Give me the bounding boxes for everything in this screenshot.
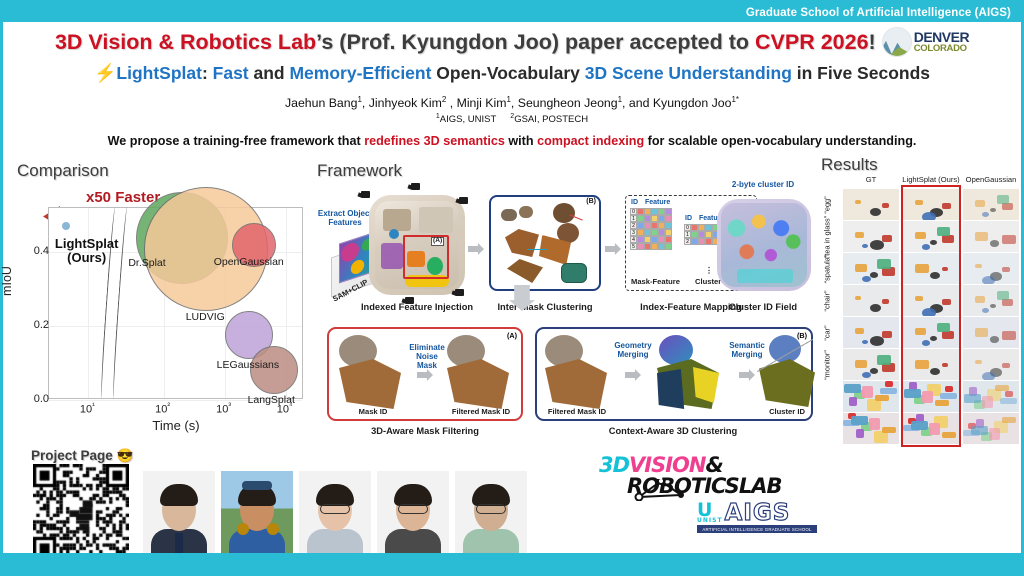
unist-mark: UUNIST — [697, 502, 723, 523]
lab-logo-graph-icon — [609, 479, 819, 501]
title-row: 3D Vision & Robotics Lab’s (Prof. Kyungd… — [3, 27, 1021, 57]
claim-part1: We propose a training-free framework tha… — [108, 134, 365, 148]
title-venue: CVPR 2026 — [755, 30, 869, 54]
author-1: Jinhyeok Kim2 — [369, 96, 447, 110]
results-cell — [963, 285, 1019, 316]
table-id-cell: 0 — [630, 208, 637, 215]
table-feature-cell — [637, 215, 644, 222]
bubble-label-0: LightSplat(Ours) — [55, 237, 119, 265]
subtitle-openvocab: Open-Vocabulary — [431, 63, 584, 83]
table-id-cell: 5 — [630, 243, 637, 250]
table-feature-cell — [637, 229, 644, 236]
claim-part3: for scalable open-vocabulary understandi… — [644, 134, 916, 148]
project-page-label: Project Page 😎 — [31, 448, 133, 464]
subtitle-scene: 3D Scene Understanding — [585, 63, 792, 83]
table-feature-cell — [665, 229, 672, 236]
results-cell — [843, 349, 899, 380]
affiliation-1: 2GSAI, POSTECH — [510, 114, 588, 125]
top-banner-label: Graduate School of Artificial Intelligen… — [746, 7, 1021, 19]
results-row-label-5: “monitor” — [823, 350, 832, 380]
table-feature-cell — [705, 224, 712, 231]
comparison-chart: x50 Faster mIoU Time (s) 10¹10²10³10⁴0.0… — [11, 185, 311, 440]
flow-arrow-2 — [605, 243, 621, 255]
table-feature-cell — [644, 229, 651, 236]
table-feature-cell — [705, 238, 712, 245]
x-tick-0: 10¹ — [80, 401, 95, 416]
camera-icon-3 — [459, 197, 468, 204]
table-feature-cell — [637, 208, 644, 215]
cluster-id-field-blob — [717, 199, 811, 291]
aigs-tagline: ARTIFICIAL INTELLIGENCE GRADUATE SCHOOL — [697, 525, 817, 533]
title-lab: 3D Vision & Robotics Lab — [55, 30, 316, 54]
avatar — [299, 471, 371, 554]
top-banner: Graduate School of Artificial Intelligen… — [3, 3, 1021, 22]
results-row-label-0: “egg” — [823, 196, 832, 213]
results-row-label-3: “chair” — [823, 290, 832, 311]
author-0: Jaehun Bang1 — [285, 96, 362, 110]
table-ellipsis: ⋮ — [705, 266, 713, 275]
mask-filtering-box: (A) Mask ID Eliminate Noise Mask Filtere… — [327, 327, 523, 421]
label-cluster-id: Cluster ID — [769, 407, 805, 416]
bottom-banner — [3, 553, 1021, 573]
mask-chip-1 — [501, 209, 517, 221]
table-feature-cell — [698, 238, 705, 245]
camera-icon-5 — [455, 289, 464, 296]
scene-blob-1: (A) — [369, 195, 465, 295]
results-highlight-box — [901, 185, 961, 447]
caption-step-2: Inter-Mask Clustering — [497, 302, 592, 312]
avatar — [143, 471, 215, 554]
heading-results: Results — [821, 155, 878, 175]
results-cell — [963, 253, 1019, 284]
results-row-label-2: “spatula” — [823, 254, 832, 283]
table-header-id-left: ID — [631, 199, 638, 206]
mask-chip-2 — [519, 206, 533, 218]
note-2byte-cluster-id: 2-byte cluster ID — [711, 180, 815, 189]
subtitle-memory: Memory-Efficient — [289, 63, 431, 83]
cvpr-denver-logo: DENVER COLORADO — [882, 27, 969, 57]
results-grid: GTLightSplat (Ours)OpenGaussian“egg”“tea… — [821, 175, 1021, 443]
affiliation-0: 1AIGS, UNIST — [436, 114, 496, 125]
semantic-arrow-icon — [739, 369, 755, 381]
qr-code[interactable] — [33, 464, 129, 560]
subtitle-tail: in Five Seconds — [792, 63, 930, 83]
bubble-label-5: LangSplat — [248, 394, 295, 406]
table-id-cell: 2 — [630, 222, 637, 229]
label-mask-id: Mask ID — [359, 407, 388, 416]
table-header-feature-left: Feature — [645, 199, 670, 206]
paper-subtitle: ⚡LightSplat: Fast and Memory-Efficient O… — [3, 63, 1021, 84]
lab-logo-line1: 3DVISION& — [599, 455, 809, 476]
table-feature-cell — [665, 236, 672, 243]
heading-comparison: Comparison — [17, 161, 109, 181]
results-cell — [843, 285, 899, 316]
x-tick-1: 10² — [155, 401, 170, 416]
flow-arrow-1 — [468, 243, 484, 255]
bubble-label-3: OpenGaussian — [214, 256, 284, 268]
caption-step-4: Cluster ID Field — [729, 302, 797, 312]
bubble-label-4: LEGaussians — [217, 359, 279, 371]
results-column-header-2: OpenGaussian — [966, 175, 1017, 184]
x-axis-label: Time (s) — [152, 418, 199, 433]
denver-line1: DENVER — [914, 30, 969, 44]
aigs-mark: AIGS — [725, 503, 791, 524]
claim-sentence: We propose a training-free framework tha… — [3, 134, 1021, 148]
eliminate-arrow-icon — [417, 369, 433, 381]
author-2: Minji Kim1 — [457, 96, 511, 110]
tag-a-scene: (A) — [431, 237, 444, 246]
mask-chip-3 — [553, 203, 575, 223]
author-4: Kyungdon Joo1* — [653, 96, 739, 110]
label-geometry-merging: Geometry Merging — [611, 341, 655, 359]
table-feature-cell — [651, 208, 658, 215]
framework-diagram: Extract Object Features SAM+CLIP (A) Ind… — [313, 181, 818, 443]
table-feature-cell — [665, 243, 672, 250]
avatar — [377, 471, 449, 554]
mask-chip-8 — [561, 263, 587, 283]
table-feature-cell — [698, 231, 705, 238]
table-feature-cell — [658, 222, 665, 229]
results-row-label-4: “car” — [823, 325, 832, 340]
table-feature-cell — [651, 215, 658, 222]
table-feature-cell — [644, 236, 651, 243]
y-tick-0: 0.0 — [34, 393, 49, 405]
table-header-id-right: ID — [685, 215, 692, 222]
results-column-header-0: GT — [866, 175, 877, 184]
label-eliminate-noise: Eliminate Noise Mask — [405, 343, 449, 371]
results-cell — [843, 253, 899, 284]
label-filtered-mask-id-a: Filtered Mask ID — [452, 407, 510, 416]
table-feature-cell — [705, 231, 712, 238]
claim-highlight2: compact indexing — [537, 134, 644, 148]
x-tick-2: 10³ — [216, 401, 231, 416]
table-feature-cell — [658, 229, 665, 236]
avatar — [221, 471, 293, 554]
denver-line2: COLORADO — [914, 44, 969, 54]
table-feature-cell — [651, 222, 658, 229]
bubble-lightsplat-ours — [62, 222, 70, 230]
table-feature-cell — [644, 215, 651, 222]
table-feature-cell — [651, 229, 658, 236]
table-id-cell: 2 — [684, 238, 691, 245]
note-extract-object-features: Extract Object Features — [315, 209, 375, 227]
results-cell — [963, 221, 1019, 252]
table-feature-cell — [644, 222, 651, 229]
table-id-cell: 1 — [684, 231, 691, 238]
lab-logo: 3DVISION& ROBOTICSLAB — [599, 455, 809, 500]
table-feature-cell — [665, 208, 672, 215]
subtitle-method: LightSplat — [116, 63, 202, 83]
authors-conjunction: and — [629, 96, 650, 110]
bubble-label-2: LUDVIG — [186, 311, 225, 323]
table-feature-cell — [665, 215, 672, 222]
results-row-label-1: “tea in glass” — [823, 215, 832, 257]
table-feature-cell — [637, 243, 644, 250]
results-cell — [963, 189, 1019, 220]
avatar — [455, 471, 527, 554]
mountain-icon — [882, 27, 912, 57]
subtitle-fast: Fast — [213, 63, 249, 83]
y-tick-1: 0.2 — [34, 319, 49, 331]
results-cell — [843, 221, 899, 252]
table-feature-cell — [644, 243, 651, 250]
results-cell — [963, 317, 1019, 348]
results-cell — [843, 317, 899, 348]
author-list: Jaehun Bang1, Jinhyeok Kim2 , Minji Kim1… — [3, 95, 1021, 110]
title-mid: ’s (Prof. Kyungdon Joo) paper accepted t… — [316, 30, 755, 54]
clustering-box: (B) Filtered Mask ID Geometry Merging Se… — [535, 327, 813, 421]
table-feature-cell — [658, 215, 665, 222]
mask-chip-7 — [507, 259, 543, 283]
title-excl: ! — [869, 30, 876, 54]
affiliations: 1AIGS, UNIST2GSAI, POSTECH — [3, 113, 1021, 125]
table-feature-cell — [665, 222, 672, 229]
heading-framework: Framework — [317, 161, 402, 181]
caption-mask-filtering: 3D-Aware Mask Filtering — [371, 426, 479, 436]
poster-root: Graduate School of Artificial Intelligen… — [0, 0, 1024, 576]
results-column-header-1: LightSplat (Ours) — [902, 175, 959, 184]
tag-b-bottom: (B) — [797, 331, 807, 340]
y-axis-label: mIoU — [0, 266, 14, 296]
label-filtered-mask-id-b: Filtered Mask ID — [548, 407, 606, 416]
bubble-label-1: Dr.Splat — [128, 257, 165, 269]
cluster-feature-table: 012 — [684, 224, 719, 245]
denver-wordmark: DENVER COLORADO — [914, 30, 969, 54]
table-feature-cell — [651, 243, 658, 250]
claim-part2: with — [505, 134, 537, 148]
results-cell — [843, 381, 899, 412]
table-id-cell: 0 — [684, 224, 691, 231]
table-feature-cell — [637, 222, 644, 229]
results-cell — [963, 381, 1019, 412]
y-tick-2: 0.4 — [34, 245, 49, 257]
tag-a-bottom: (A) — [507, 331, 517, 340]
table-feature-cell — [644, 208, 651, 215]
geometry-arrow-icon — [625, 369, 641, 381]
camera-icon-2 — [411, 183, 420, 190]
table-feature-cell — [658, 208, 665, 215]
table-feature-cell — [698, 224, 705, 231]
inter-mask-box: (B) — [489, 195, 601, 291]
author-3: Seungheon Jeong1 — [518, 96, 622, 110]
table-feature-cell — [637, 236, 644, 243]
bolt-icon: ⚡ — [94, 63, 116, 83]
table-feature-cell — [691, 231, 698, 238]
mask-chip-5 — [505, 229, 539, 257]
subtitle-colon: : — [202, 63, 213, 83]
label-semantic-merging: Semantic Merging — [725, 341, 769, 359]
subtitle-and: and — [249, 63, 290, 83]
table-feature-cell — [691, 238, 698, 245]
table-feature-cell — [691, 224, 698, 231]
table-id-cell: 1 — [630, 215, 637, 222]
camera-icon-1 — [361, 191, 370, 198]
results-cell — [963, 413, 1019, 444]
tag-b-top: (B) — [586, 198, 596, 205]
caption-step-1: Indexed Feature Injection — [361, 302, 473, 312]
table-id-cell: 3 — [630, 229, 637, 236]
table-id-cell: 4 — [630, 236, 637, 243]
label-mask-feature: Mask-Feature — [631, 277, 680, 286]
claim-highlight1: redefines 3D semantics — [364, 134, 505, 148]
results-cell — [843, 189, 899, 220]
table-feature-cell — [658, 236, 665, 243]
caption-clustering: Context-Aware 3D Clustering — [609, 426, 737, 436]
page-title: 3D Vision & Robotics Lab’s (Prof. Kyungd… — [55, 30, 876, 55]
results-cell — [963, 349, 1019, 380]
aigs-logo: UUNIST AIGS ARTIFICIAL INTELLIGENCE GRAD… — [697, 502, 817, 542]
table-feature-cell — [651, 236, 658, 243]
results-cell — [843, 413, 899, 444]
caption-step-3: Index-Feature Mapping — [640, 302, 742, 312]
table-feature-cell — [658, 243, 665, 250]
mask-feature-table: 012345 — [630, 208, 672, 250]
